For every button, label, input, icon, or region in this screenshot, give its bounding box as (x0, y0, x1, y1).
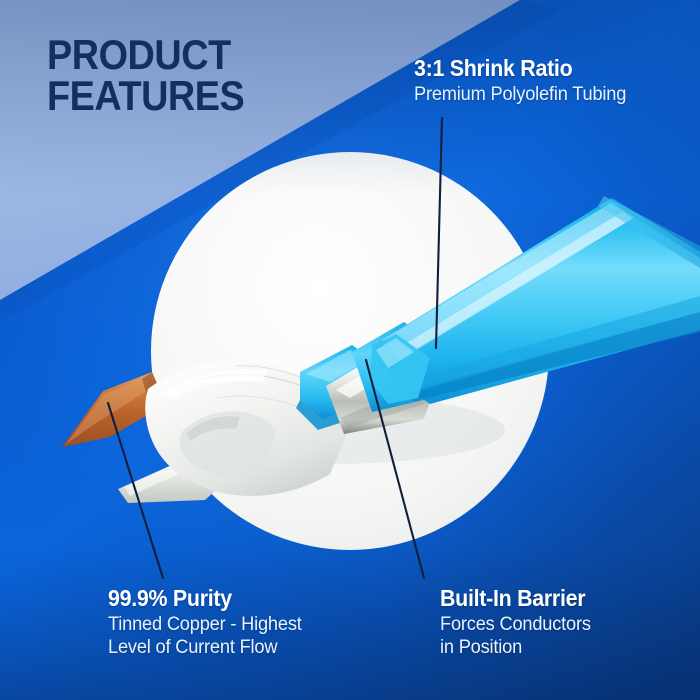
feature-purity-subtext: Tinned Copper - Highest Level of Current… (108, 614, 302, 660)
feature-shrink-ratio-heading: 3:1 Shrink Ratio (414, 56, 620, 82)
feature-purity-subline-2: Level of Current Flow (108, 637, 302, 660)
feature-purity-heading: 99.9% Purity (108, 586, 296, 612)
feature-barrier-subtext: Forces Conductors in Position (440, 614, 591, 660)
feature-barrier-subline-1: Forces Conductors (440, 614, 591, 637)
feature-shrink-ratio-subline-1: Premium Polyolefin Tubing (414, 84, 626, 107)
feature-barrier-subline-2: in Position (440, 637, 591, 660)
feature-purity: 99.9% Purity Tinned Copper - Highest Lev… (108, 586, 310, 659)
feature-purity-subline-1: Tinned Copper - Highest (108, 614, 302, 637)
feature-shrink-ratio-subtext: Premium Polyolefin Tubing (414, 84, 626, 107)
feature-barrier-heading: Built-In Barrier (440, 586, 586, 612)
page-title-line-1: PRODUCT (47, 34, 344, 75)
page-title-line-2: FEATURES (47, 75, 344, 116)
feature-shrink-ratio: 3:1 Shrink Ratio Premium Polyolefin Tubi… (414, 56, 635, 107)
page-title: PRODUCT FEATURES (47, 34, 344, 116)
infographic-canvas: PRODUCT FEATURES 3:1 Shrink Ratio Premiu… (0, 0, 700, 700)
feature-barrier: Built-In Barrier Forces Conductors in Po… (440, 586, 597, 659)
